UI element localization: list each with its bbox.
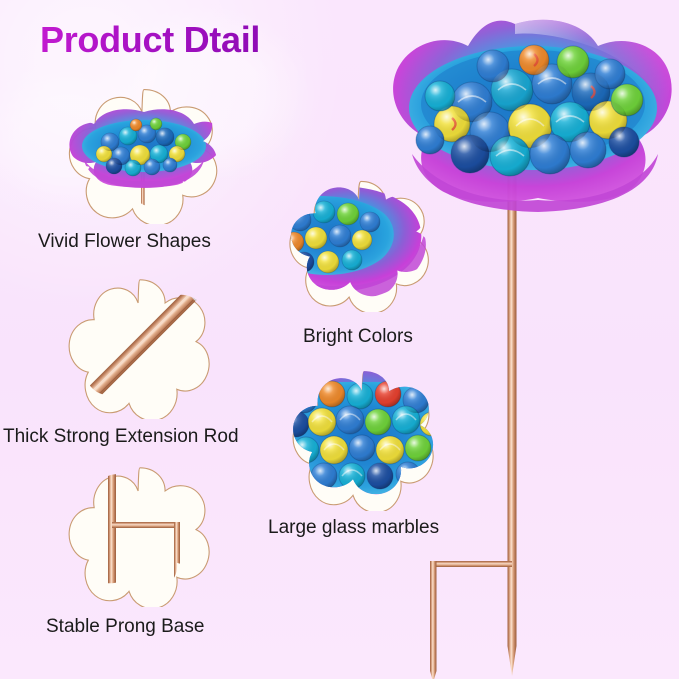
hero-extension-rod <box>508 154 517 646</box>
caption-stable-prong-base: Stable Prong Base <box>46 616 204 638</box>
callout-bright-colors <box>286 176 436 312</box>
product-detail-infographic: Product Dtail <box>0 0 679 679</box>
callout-stable-prong-base <box>64 462 216 607</box>
caption-large-glass-marbles: Large glass marbles <box>268 517 439 539</box>
page-title: Product Dtail <box>40 19 260 61</box>
callout-thick-strong-extension-rod <box>64 274 216 419</box>
caption-thick-strong-extension-rod: Thick Strong Extension Rod <box>3 426 239 448</box>
hero-prong-base <box>430 561 512 679</box>
caption-vivid-flower-shapes: Vivid Flower Shapes <box>38 231 211 253</box>
hero-rod-tip <box>508 646 517 676</box>
callout-vivid-flower-shapes <box>64 84 224 224</box>
caption-bright-colors: Bright Colors <box>303 326 413 348</box>
callout-large-glass-marbles <box>288 366 440 511</box>
